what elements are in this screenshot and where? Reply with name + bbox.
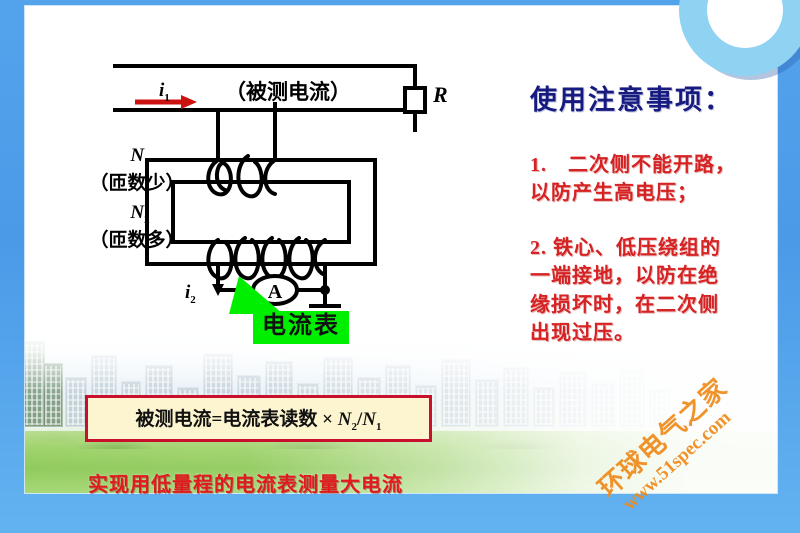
note-line: 1. 二次侧不能开路， [530, 151, 780, 179]
formula-text: 被测电流=电流表读数 × N2/N1 [136, 409, 382, 430]
slide-canvas: A i1 （被测电流） R [0, 0, 800, 533]
resistor-label: R [433, 82, 448, 108]
watermark-url: www.51spec.com [619, 407, 736, 515]
building [503, 367, 529, 427]
ammeter-callout-label: 电流表 [253, 311, 349, 344]
note-line: 缘损坏时，在二次侧 [530, 291, 780, 319]
building [475, 379, 499, 427]
usage-notes-panel: 使用注意事项： 1. 二次侧不能开路， 以防产生高电压； 2. 铁心、低压绕组的… [530, 78, 780, 373]
note-item: 2. 铁心、低压绕组的 一端接地，以防在绝 缘损坏时，在二次侧 出现过压。 [530, 234, 780, 348]
building [619, 369, 645, 427]
building [559, 371, 587, 427]
n2-winding [208, 238, 325, 278]
junction-dot [320, 285, 330, 295]
note-line: 2. 铁心、低压绕组的 [530, 234, 780, 262]
building [533, 387, 555, 427]
n2-label: N2 [95, 202, 185, 226]
n1-note: （匝数少） [87, 168, 187, 195]
note-line: 以防产生高电压； [530, 179, 780, 207]
n1-winding [208, 156, 275, 196]
n2-note: （匝数多） [87, 225, 187, 252]
building [441, 359, 471, 427]
i1-label: i1 [159, 80, 170, 104]
building [65, 377, 87, 427]
n1-label: N1 [95, 145, 185, 169]
i2-label: i2 [185, 282, 196, 306]
building [43, 363, 63, 427]
note-line: 一端接地，以防在绝 [530, 262, 780, 290]
note-line: 出现过压。 [530, 319, 780, 347]
notes-title: 使用注意事项： [530, 78, 780, 117]
note-item: 1. 二次侧不能开路， 以防产生高电压； [530, 151, 780, 208]
measured-current-label: （被测电流） [225, 76, 351, 106]
resistor-symbol [405, 88, 425, 112]
formula-box: 被测电流=电流表读数 × N2/N1 [85, 395, 432, 442]
slide-content-card: A i1 （被测电流） R [25, 6, 777, 493]
bottom-caption: 实现用低量程的电流表测量大电流 [88, 468, 403, 497]
watermark-brand: 环球电气之家 [589, 369, 734, 505]
building [591, 383, 615, 427]
building [25, 341, 45, 427]
building [649, 389, 671, 427]
